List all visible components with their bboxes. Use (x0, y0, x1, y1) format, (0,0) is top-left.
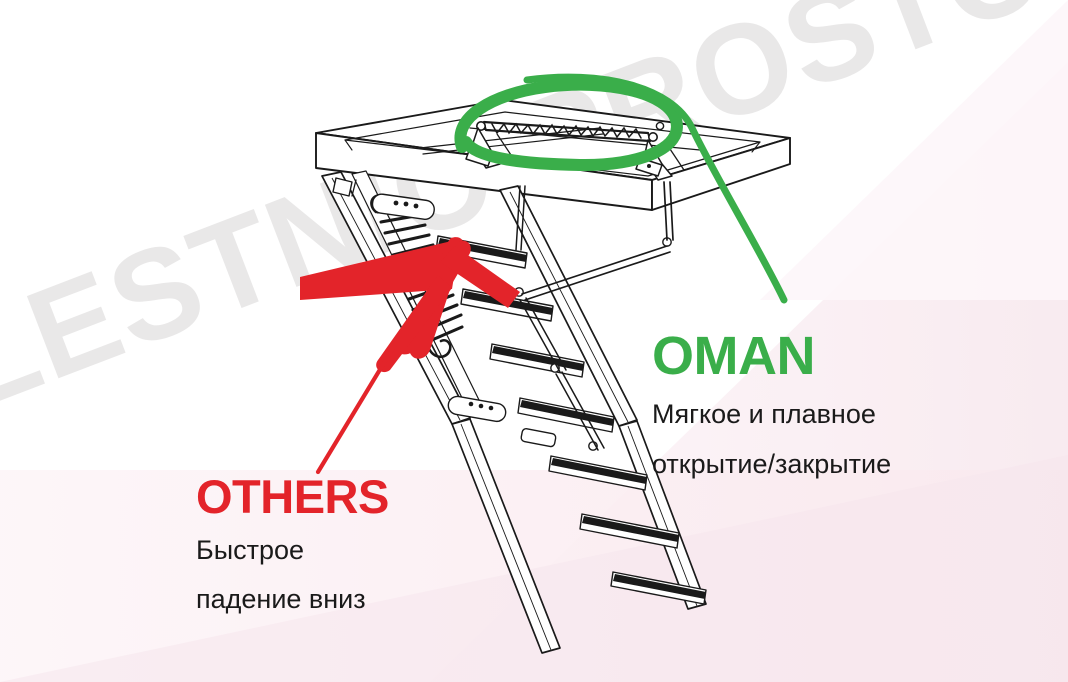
oman-title: OMAN (652, 329, 891, 383)
ceiling-hatch-box (316, 100, 790, 210)
others-subtitle-line-1: Быстрое (196, 532, 389, 569)
loft-ladder-illustration (0, 0, 1068, 682)
oman-subtitle-line-2: открытие/закрытие (652, 446, 891, 483)
oman-subtitle-line-1: Мягкое и плавное (652, 396, 891, 433)
promo-graphic-canvas: LESTNIC-PROSTO.RU (0, 0, 1068, 682)
callout-others: OTHERS Быстрое падение вниз (196, 473, 389, 619)
others-title: OTHERS (196, 473, 389, 520)
others-subtitle-line-2: падение вниз (196, 581, 389, 618)
callout-oman: OMAN Мягкое и плавное открытие/закрытие (652, 329, 891, 484)
red-arrow-tail (318, 348, 393, 472)
